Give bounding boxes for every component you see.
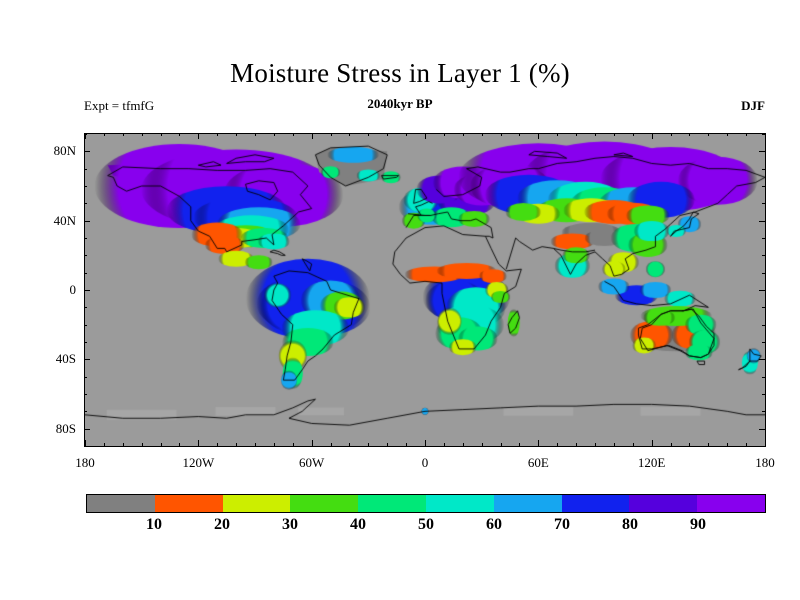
- y-minor-tick: [84, 342, 87, 343]
- y-tick-40N: 40N: [54, 213, 76, 229]
- colorbar-band-<10: [87, 495, 155, 512]
- x-minor-tick: [595, 443, 596, 446]
- x-minor-tick: [501, 443, 502, 446]
- x-minor-tick: [406, 133, 407, 136]
- x-tick-60W-2: 60W: [299, 455, 324, 471]
- y-tick-40S: 40S: [56, 351, 76, 367]
- y-minor-tick: [762, 307, 765, 308]
- x-minor-tick: [179, 443, 180, 446]
- x-minor-tick: [538, 440, 539, 446]
- x-minor-tick: [708, 133, 709, 136]
- x-minor-tick: [198, 133, 199, 139]
- x-minor-tick: [387, 443, 388, 446]
- x-minor-tick: [765, 440, 766, 446]
- y-minor-tick: [84, 169, 87, 170]
- y-minor-tick: [762, 342, 765, 343]
- colorbar-tick-50: 50: [418, 516, 434, 534]
- y-minor-tick: [84, 273, 87, 274]
- y-tick-80N: 80N: [54, 143, 76, 159]
- y-minor-tick: [759, 221, 765, 222]
- x-minor-tick: [293, 133, 294, 136]
- x-minor-tick: [161, 443, 162, 446]
- x-minor-tick: [161, 133, 162, 136]
- y-minor-tick: [759, 429, 765, 430]
- y-minor-tick: [762, 238, 765, 239]
- x-minor-tick: [652, 440, 653, 446]
- x-tick-180-6: 180: [755, 455, 775, 471]
- x-minor-tick: [142, 443, 143, 446]
- x-minor-tick: [519, 133, 520, 136]
- x-minor-tick: [482, 133, 483, 136]
- x-minor-tick: [576, 133, 577, 136]
- x-minor-tick: [255, 443, 256, 446]
- x-minor-tick: [198, 440, 199, 446]
- climate-map-figure: Moisture Stress in Layer 1 (%) 2040kyr B…: [0, 0, 800, 600]
- y-minor-tick: [762, 325, 765, 326]
- colorbar-band-80-90: [629, 495, 697, 512]
- y-minor-tick: [84, 238, 87, 239]
- y-minor-tick: [762, 411, 765, 412]
- x-minor-tick: [746, 133, 747, 136]
- y-minor-tick: [84, 255, 87, 256]
- x-minor-tick: [671, 133, 672, 136]
- colorbar-band-70-80: [562, 495, 630, 512]
- x-minor-tick: [538, 133, 539, 139]
- x-tick-60E-4: 60E: [528, 455, 549, 471]
- x-minor-tick: [444, 443, 445, 446]
- colorbar-tick-40: 40: [350, 516, 366, 534]
- experiment-label: Expt = tfmfG: [84, 98, 154, 114]
- colorbar-tick-20: 20: [214, 516, 230, 534]
- y-minor-tick: [84, 203, 87, 204]
- colorbar-band-30-40: [290, 495, 358, 512]
- x-axis-labels: 180120W60W060E120E180: [0, 455, 800, 475]
- x-minor-tick: [614, 443, 615, 446]
- x-minor-tick: [104, 133, 105, 136]
- x-minor-tick: [217, 443, 218, 446]
- y-minor-tick: [84, 429, 90, 430]
- x-minor-tick: [746, 443, 747, 446]
- colorbar-tick-30: 30: [282, 516, 298, 534]
- y-tick-0: 0: [70, 282, 77, 298]
- y-minor-tick: [84, 221, 90, 222]
- x-minor-tick: [765, 133, 766, 139]
- x-minor-tick: [368, 443, 369, 446]
- x-minor-tick: [708, 443, 709, 446]
- y-minor-tick: [762, 203, 765, 204]
- page-title: Moisture Stress in Layer 1 (%): [0, 58, 800, 89]
- x-minor-tick: [425, 133, 426, 139]
- x-minor-tick: [482, 443, 483, 446]
- x-minor-tick: [312, 440, 313, 446]
- x-minor-tick: [633, 443, 634, 446]
- x-minor-tick: [727, 133, 728, 136]
- x-minor-tick: [312, 133, 313, 139]
- y-minor-tick: [762, 394, 765, 395]
- y-minor-tick: [84, 325, 87, 326]
- x-minor-tick: [689, 443, 690, 446]
- y-minor-tick: [84, 377, 87, 378]
- x-tick-0-3: 0: [422, 455, 429, 471]
- colorbar-tick-10: 10: [146, 516, 162, 534]
- y-minor-tick: [84, 151, 90, 152]
- y-minor-tick: [84, 446, 87, 447]
- x-minor-tick: [236, 133, 237, 136]
- x-minor-tick: [557, 443, 558, 446]
- colorbar-band->90: [697, 495, 765, 512]
- x-minor-tick: [349, 133, 350, 136]
- colorbar-tick-70: 70: [554, 516, 570, 534]
- y-minor-tick: [84, 186, 87, 187]
- x-minor-tick: [501, 133, 502, 136]
- x-minor-tick: [368, 133, 369, 136]
- x-minor-tick: [142, 133, 143, 136]
- colorbar-band-40-50: [358, 495, 426, 512]
- colorbar-labels: 102030405060708090: [0, 516, 800, 538]
- x-minor-tick: [104, 443, 105, 446]
- colorbar-tick-90: 90: [690, 516, 706, 534]
- y-minor-tick: [84, 134, 87, 135]
- x-minor-tick: [576, 443, 577, 446]
- y-minor-tick: [84, 307, 87, 308]
- colorbar: [86, 494, 766, 513]
- x-minor-tick: [463, 443, 464, 446]
- x-minor-tick: [652, 133, 653, 139]
- x-minor-tick: [689, 133, 690, 136]
- x-minor-tick: [614, 133, 615, 136]
- x-minor-tick: [293, 443, 294, 446]
- map-plot-area: [84, 133, 766, 447]
- y-minor-tick: [84, 394, 87, 395]
- colorbar-band-50-60: [426, 495, 494, 512]
- x-minor-tick: [406, 443, 407, 446]
- y-tick-80S: 80S: [56, 421, 76, 437]
- y-minor-tick: [762, 273, 765, 274]
- x-tick-180-0: 180: [75, 455, 95, 471]
- moisture-stress-raster: [85, 134, 765, 446]
- x-minor-tick: [179, 133, 180, 136]
- y-minor-tick: [762, 186, 765, 187]
- x-minor-tick: [425, 440, 426, 446]
- x-minor-tick: [217, 133, 218, 136]
- colorbar-band-20-30: [223, 495, 291, 512]
- x-minor-tick: [349, 443, 350, 446]
- x-minor-tick: [595, 133, 596, 136]
- colorbar-band-10-20: [155, 495, 223, 512]
- x-minor-tick: [557, 133, 558, 136]
- y-minor-tick: [762, 377, 765, 378]
- x-minor-tick: [444, 133, 445, 136]
- x-tick-120W-1: 120W: [182, 455, 214, 471]
- season-label: DJF: [741, 98, 765, 114]
- x-minor-tick: [727, 443, 728, 446]
- x-minor-tick: [519, 443, 520, 446]
- x-minor-tick: [633, 133, 634, 136]
- x-minor-tick: [236, 443, 237, 446]
- y-minor-tick: [759, 151, 765, 152]
- y-minor-tick: [762, 446, 765, 447]
- x-minor-tick: [255, 133, 256, 136]
- colorbar-tick-60: 60: [486, 516, 502, 534]
- x-minor-tick: [123, 133, 124, 136]
- x-minor-tick: [274, 443, 275, 446]
- x-minor-tick: [463, 133, 464, 136]
- x-minor-tick: [331, 133, 332, 136]
- x-minor-tick: [331, 443, 332, 446]
- y-axis-labels: 80N40N040S80S: [10, 133, 76, 447]
- x-minor-tick: [387, 133, 388, 136]
- x-minor-tick: [123, 443, 124, 446]
- y-minor-tick: [762, 255, 765, 256]
- y-minor-tick: [762, 169, 765, 170]
- y-minor-tick: [762, 134, 765, 135]
- x-tick-120E-5: 120E: [638, 455, 665, 471]
- y-minor-tick: [84, 411, 87, 412]
- colorbar-band-60-70: [494, 495, 562, 512]
- x-minor-tick: [274, 133, 275, 136]
- y-minor-tick: [759, 290, 765, 291]
- y-minor-tick: [84, 359, 90, 360]
- x-minor-tick: [671, 443, 672, 446]
- y-minor-tick: [84, 290, 90, 291]
- colorbar-tick-80: 80: [622, 516, 638, 534]
- y-minor-tick: [759, 359, 765, 360]
